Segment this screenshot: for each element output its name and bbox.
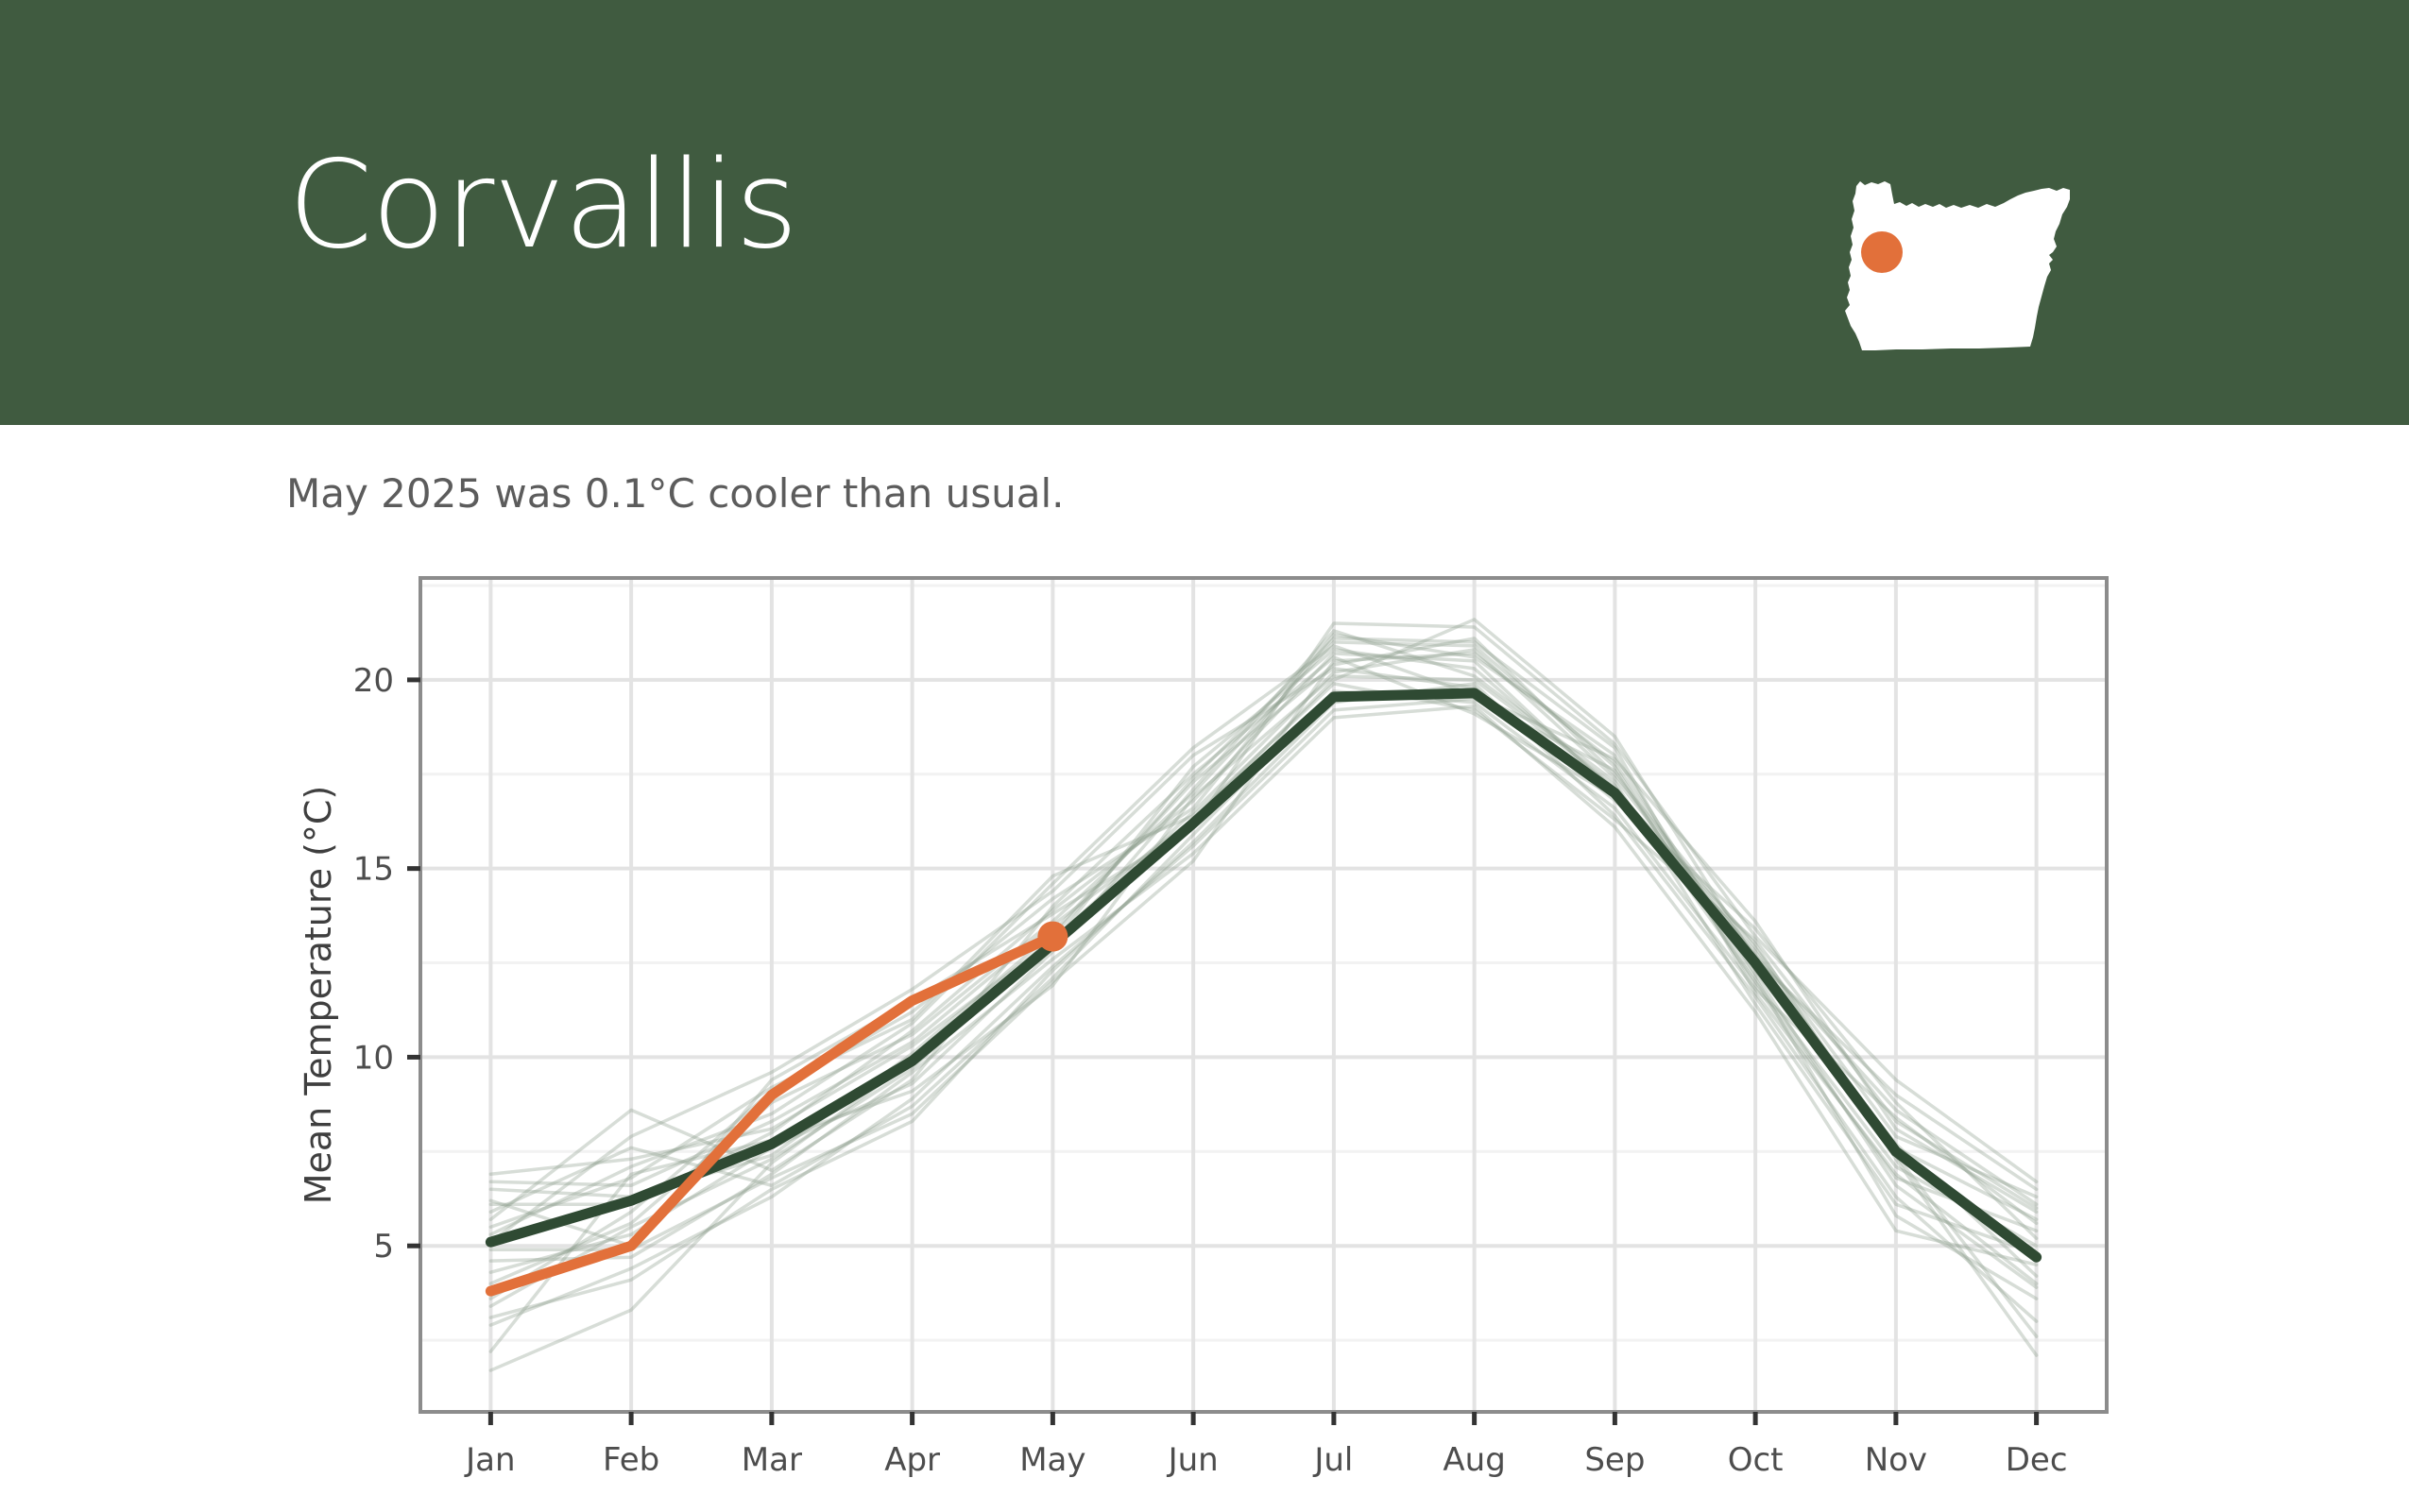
x-tick-label-feb: Feb (603, 1441, 659, 1479)
x-tick-label-mar: Mar (742, 1441, 802, 1479)
x-tick-label-sep: Sep (1584, 1441, 1645, 1479)
x-tick-label-nov: Nov (1865, 1441, 1927, 1479)
y-tick-label: 15 (353, 851, 394, 889)
x-tick-label-aug: Aug (1443, 1441, 1505, 1479)
chart-canvas: 5101520 JanFebMarAprMayJunJulAugSepOctNo… (0, 529, 2409, 1483)
page-title: Corvallis (288, 145, 797, 266)
x-axis-ticks (490, 1412, 2036, 1425)
x-axis-tick-labels: JanFebMarAprMayJunJulAugSepOctNovDec (464, 1441, 2067, 1479)
oregon-map-locator (1837, 165, 2107, 359)
city-marker-icon (1861, 231, 1903, 273)
y-tick-label: 20 (353, 662, 394, 700)
x-tick-label-oct: Oct (1728, 1441, 1784, 1479)
x-tick-label-jan: Jan (464, 1441, 515, 1479)
x-tick-label-dec: Dec (2006, 1441, 2068, 1479)
historical-series-group (490, 620, 2036, 1370)
current-year-endpoint-marker (1037, 922, 1068, 952)
y-tick-label: 5 (373, 1228, 394, 1266)
x-tick-label-apr: Apr (884, 1441, 940, 1479)
chart-subtitle: May 2025 was 0.1°C cooler than usual. (286, 470, 1065, 517)
oregon-state-outline-icon (1837, 165, 2107, 359)
y-axis-title: Mean Temperature (°C) (298, 786, 339, 1205)
x-tick-label-jun: Jun (1167, 1441, 1219, 1479)
page-header: Corvallis (0, 0, 2409, 425)
x-tick-label-may: May (1019, 1441, 1085, 1479)
y-axis-tick-labels: 5101520 (353, 662, 394, 1266)
x-tick-label-jul: Jul (1312, 1441, 1353, 1479)
y-tick-label: 10 (353, 1039, 394, 1077)
temperature-chart: 5101520 JanFebMarAprMayJunJulAugSepOctNo… (0, 529, 2409, 1483)
plot-panel-border (420, 578, 2107, 1412)
y-axis-ticks (407, 680, 420, 1246)
